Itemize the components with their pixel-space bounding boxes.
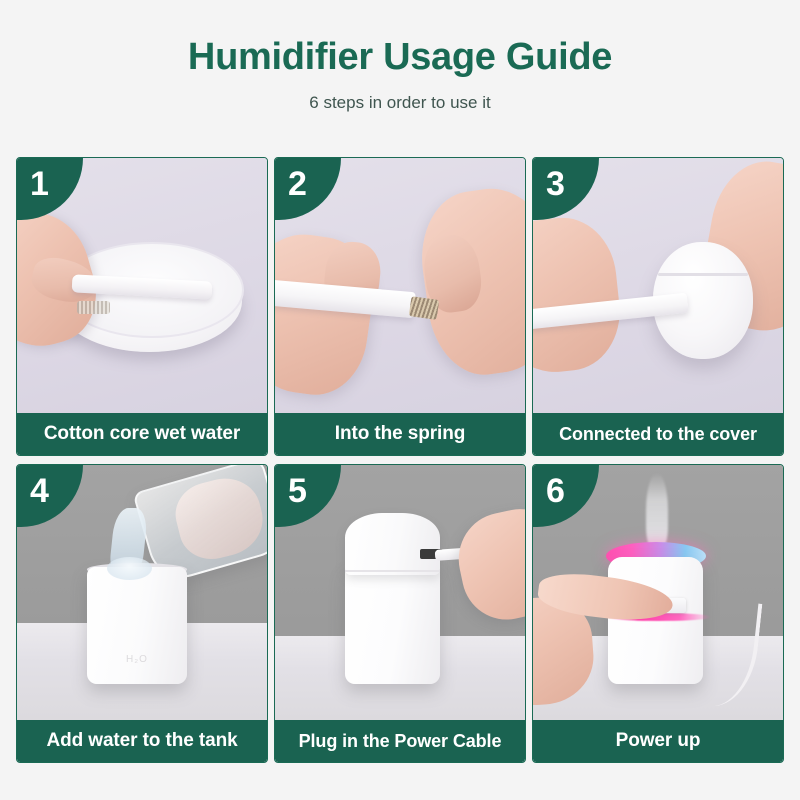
humidifier-body — [345, 567, 440, 684]
left-hand — [533, 213, 626, 379]
humidifier-lid — [345, 513, 440, 574]
step-photo-1: 1 — [17, 158, 267, 413]
steps-grid: 1 Cotton core wet water 2 Into the sprin… — [16, 157, 784, 763]
water-tank — [87, 567, 187, 684]
step-card-4[interactable]: H₂O 4 Add water to the tank — [16, 464, 268, 763]
body-seam — [345, 570, 440, 572]
hand — [450, 501, 525, 628]
step-card-3[interactable]: 3 Connected to the cover — [532, 157, 784, 456]
step-card-2[interactable]: 2 Into the spring — [274, 157, 526, 456]
step-photo-4: H₂O 4 — [17, 465, 267, 720]
step-caption-1: Cotton core wet water — [17, 413, 267, 455]
page-title: Humidifier Usage Guide — [0, 38, 800, 78]
page-subtitle: 6 steps in order to use it — [0, 94, 800, 113]
mist-plume — [646, 473, 669, 550]
step-photo-5: 5 — [275, 465, 525, 720]
step-caption-4: Add water to the tank — [17, 720, 267, 762]
step-card-6[interactable]: 6 Power up — [532, 464, 784, 763]
step-caption-3: Connected to the cover — [533, 413, 783, 455]
step-photo-3: 3 — [533, 158, 783, 413]
step-caption-6: Power up — [533, 720, 783, 762]
header: Humidifier Usage Guide 6 steps in order … — [0, 0, 800, 113]
infographic-page: Humidifier Usage Guide 6 steps in order … — [0, 0, 800, 800]
step-card-1[interactable]: 1 Cotton core wet water — [16, 157, 268, 456]
step-photo-2: 2 — [275, 158, 525, 413]
step-caption-2: Into the spring — [275, 413, 525, 455]
step-photo-6: 6 — [533, 465, 783, 720]
spring — [77, 301, 110, 314]
tank-label: H₂O — [87, 654, 187, 665]
step-card-5[interactable]: 5 Plug in the Power Cable — [274, 464, 526, 763]
spring — [409, 296, 439, 320]
water-splash — [107, 557, 152, 580]
cover-seam — [658, 273, 748, 276]
step-caption-5: Plug in the Power Cable — [275, 720, 525, 762]
